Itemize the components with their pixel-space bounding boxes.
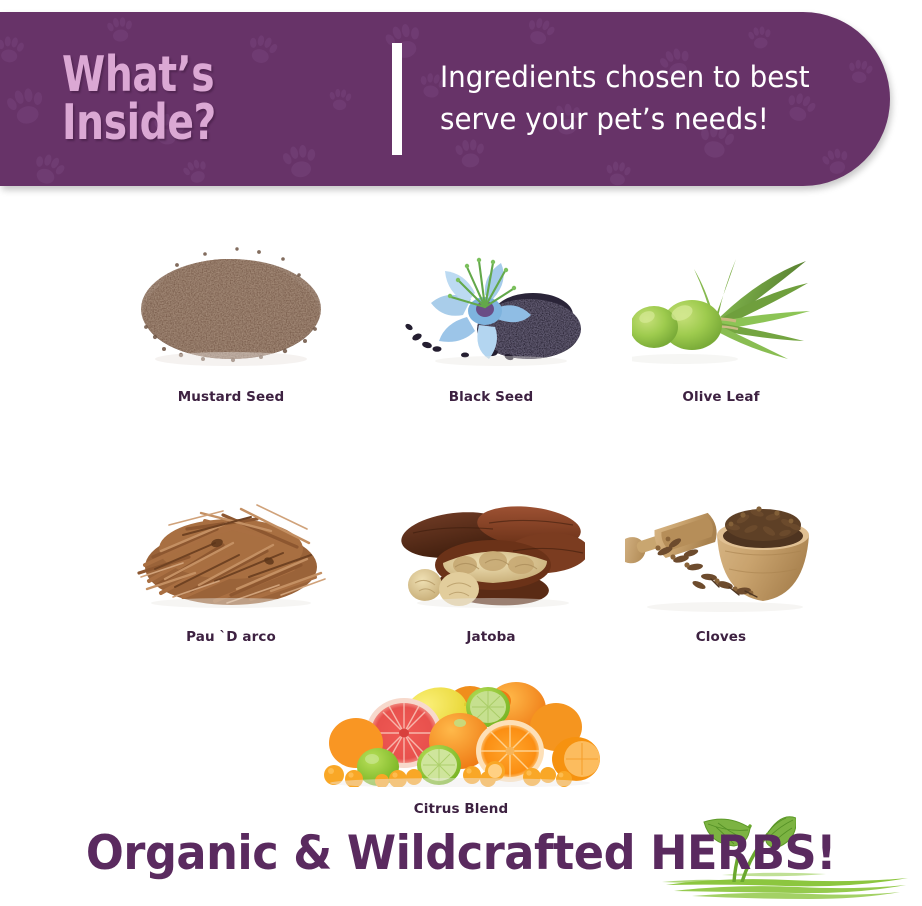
ingredient-label: Black Seed bbox=[449, 389, 533, 405]
ingredient-cell-citrus-blend: Citrus Blend bbox=[311, 671, 611, 817]
banner-tagline: Ingredients chosen to best serve your pe… bbox=[440, 57, 810, 141]
pau-darco-bark-shreds-image bbox=[131, 485, 331, 613]
ingredient-label: Olive Leaf bbox=[682, 389, 759, 405]
ingredient-grid: Mustard Seed bbox=[0, 205, 922, 817]
ingredient-label: Cloves bbox=[696, 629, 746, 645]
cloves-in-wooden-bowl-image bbox=[625, 481, 817, 617]
ingredient-cell-cloves: Cloves bbox=[606, 481, 836, 645]
mustard-seed-pile-image bbox=[133, 239, 329, 371]
ingredient-cell-jatoba: Jatoba bbox=[376, 483, 606, 645]
ingredient-cell-olive-leaf: Olive Leaf bbox=[606, 255, 836, 405]
green-olives-with-leaves-image bbox=[632, 255, 810, 373]
ingredient-label: Citrus Blend bbox=[414, 801, 509, 817]
ingredient-cell-mustard-seed: Mustard Seed bbox=[86, 239, 376, 405]
ingredient-cell-pau-darco: Pau `D arco bbox=[86, 485, 376, 645]
black-seed-with-nigella-flower-image bbox=[401, 245, 581, 369]
ingredient-label: Mustard Seed bbox=[178, 389, 285, 405]
promo-page: What’s Inside? Ingredients chosen to bes… bbox=[0, 0, 922, 906]
mixed-citrus-fruit-pile-image bbox=[320, 671, 602, 787]
ingredient-row-1: Mustard Seed bbox=[0, 205, 922, 405]
ingredient-label: Pau `D arco bbox=[186, 629, 276, 645]
ingredient-row-2: Pau `D arco bbox=[0, 427, 922, 645]
header-banner: What’s Inside? Ingredients chosen to bes… bbox=[0, 12, 890, 186]
banner-content: What’s Inside? Ingredients chosen to bes… bbox=[0, 12, 890, 186]
ingredient-label: Jatoba bbox=[466, 629, 515, 645]
jatoba-pods-image bbox=[397, 483, 585, 611]
ingredient-row-3: Citrus Blend bbox=[0, 667, 922, 817]
banner-divider bbox=[392, 43, 402, 155]
banner-title: What’s Inside? bbox=[62, 51, 326, 147]
footer-headline: Organic & Wildcrafted HERBS! bbox=[86, 830, 836, 877]
footer-banner: Organic & Wildcrafted HERBS! bbox=[0, 818, 922, 906]
ingredient-cell-black-seed: Black Seed bbox=[376, 245, 606, 405]
